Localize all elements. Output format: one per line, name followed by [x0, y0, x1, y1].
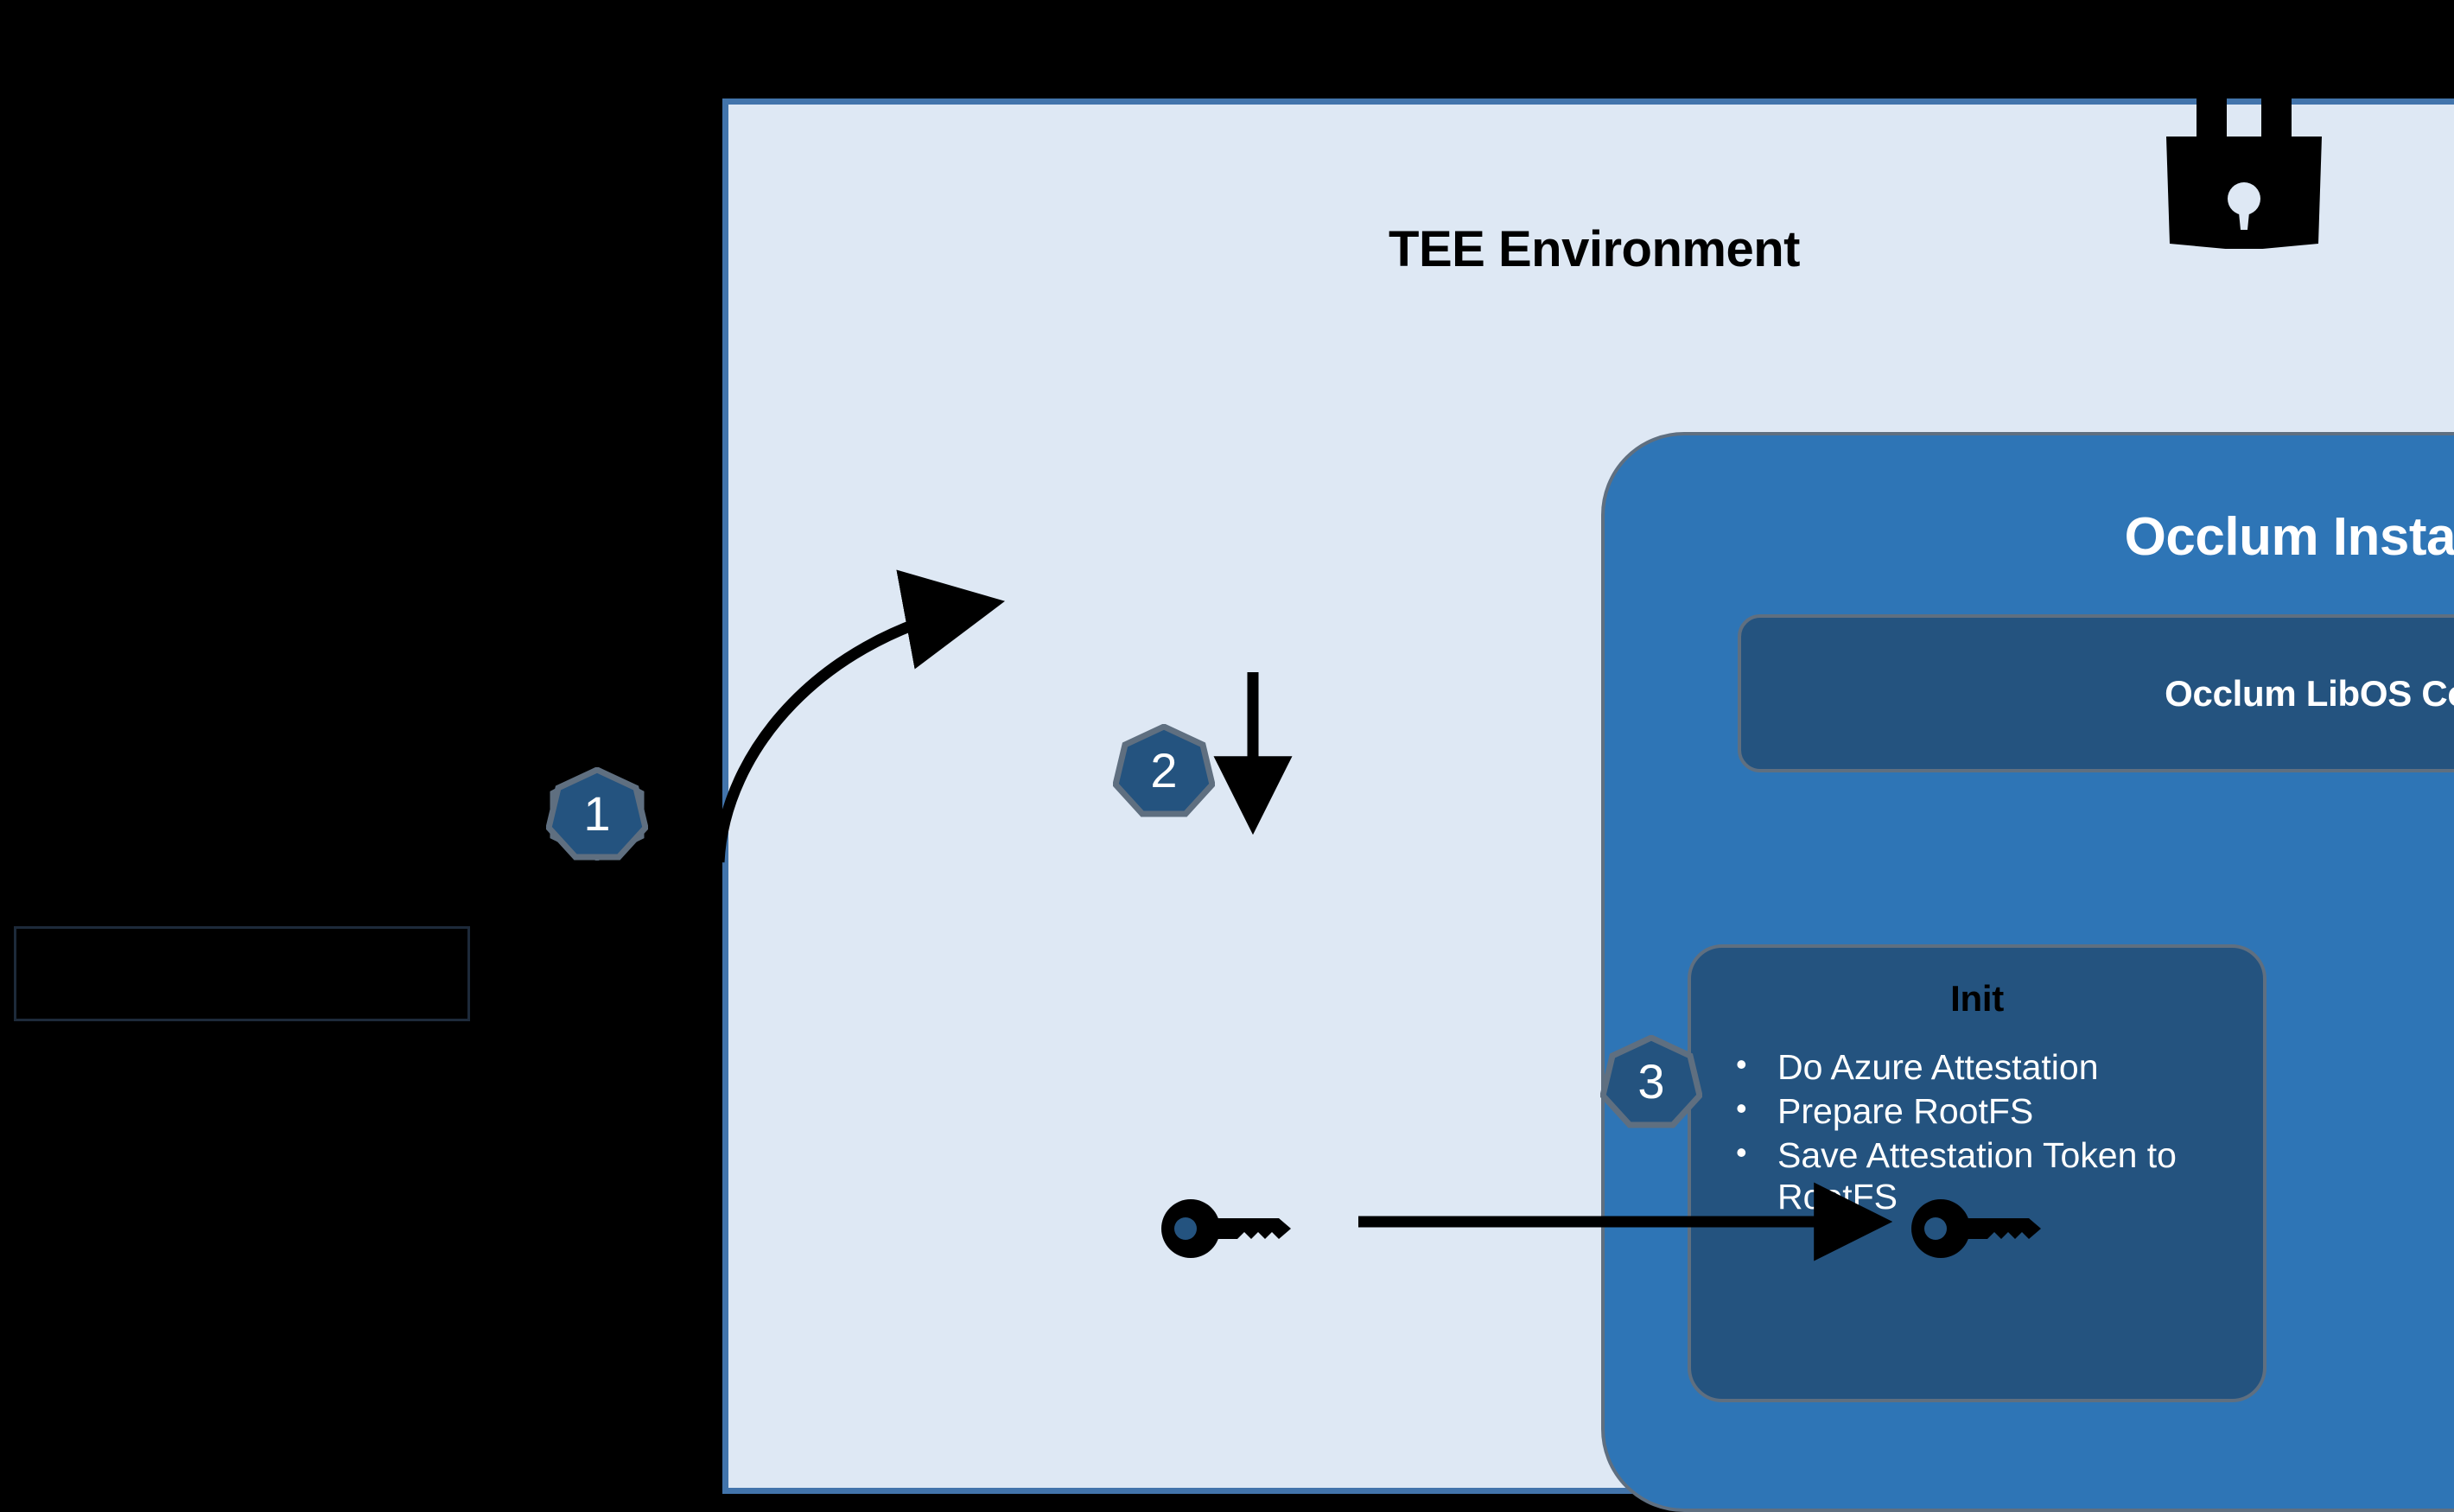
tee-environment-box: TEE Environment Occlum Instance Occlum L…	[722, 98, 2454, 1494]
list-item: Do Azure Attestation	[1724, 1047, 2249, 1089]
placeholder-rectangle	[14, 926, 470, 1021]
step-badge-1-number: 1	[546, 767, 648, 861]
key-icon	[1160, 1194, 1306, 1263]
occlum-instance-title: Occlum Instance	[1605, 506, 2454, 568]
step-badge-3-number: 3	[1600, 1035, 1702, 1128]
init-card-title: Init	[1691, 978, 2263, 1020]
diagram-canvas: TEE Environment Occlum Instance Occlum L…	[0, 0, 2454, 1494]
key-icon	[1910, 1194, 2057, 1263]
step-badge-1: 1	[546, 767, 648, 861]
list-item: Prepare RootFS	[1724, 1091, 2249, 1133]
init-card: Init Do Azure Attestation Prepare RootFS…	[1688, 944, 2266, 1402]
padlock-icon	[2158, 93, 2330, 249]
occlum-libos-core-label: Occlum LibOS Core	[2165, 673, 2454, 715]
occlum-libos-core-box: Occlum LibOS Core	[1738, 614, 2454, 772]
step-badge-3: 3	[1600, 1035, 1702, 1128]
step-badge-2: 2	[1113, 724, 1215, 817]
step-badge-2-number: 2	[1113, 724, 1215, 817]
